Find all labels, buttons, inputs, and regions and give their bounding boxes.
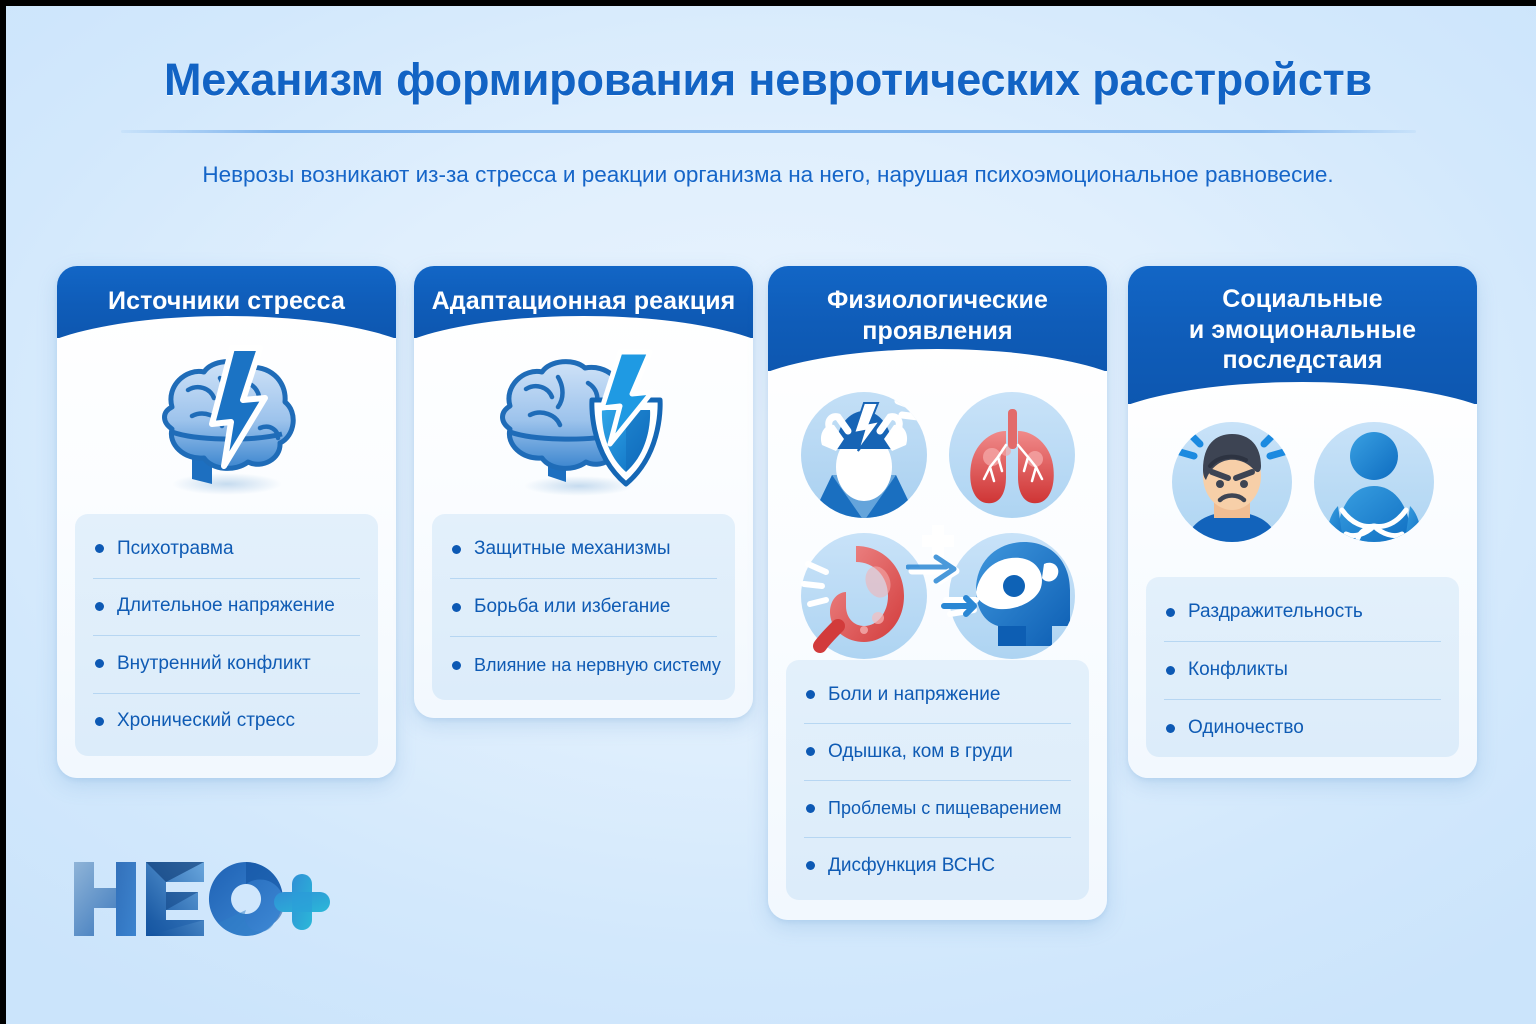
frame-edge-left	[0, 0, 6, 1024]
brain-shield-lightning-icon	[474, 344, 694, 509]
card-physiological-symptoms[interactable]: Физиологические проявления	[768, 266, 1107, 920]
lonely-person-icon	[1308, 416, 1440, 553]
bullet-icon	[806, 690, 815, 699]
list-item[interactable]: Боли и напряжение	[786, 666, 1089, 723]
list-item[interactable]: Раздражительность	[1146, 583, 1459, 641]
list-item[interactable]: Защитные механизмы	[432, 520, 735, 578]
bullet-icon	[806, 861, 815, 870]
bullet-icon	[95, 717, 104, 726]
card-stress-sources[interactable]: Источники стресса	[57, 266, 396, 778]
card-social-title-line1: Социальные	[1222, 285, 1383, 313]
page-subtitle: Неврозы возникают из-за стресса и реакци…	[0, 160, 1536, 189]
list-item[interactable]: Дисфункция ВСНС	[786, 837, 1089, 894]
bullet-icon	[1166, 724, 1175, 733]
bullet-icon	[452, 545, 461, 554]
bullet-icon	[452, 661, 461, 670]
frame-edge-top	[0, 0, 1536, 6]
list-item-label: Проблемы с пищеварением	[828, 798, 1061, 819]
list-item-label: Боли и напряжение	[828, 684, 1000, 706]
card-stress-sources-icon-area	[57, 338, 396, 510]
brain-lightning-icon	[132, 344, 322, 509]
card-social-title-line3: последстаия	[1222, 346, 1382, 374]
list-item-label: Одиночество	[1188, 717, 1304, 739]
card-physiological-title-line2: проявления	[862, 317, 1012, 345]
infographic-canvas: Механизм формирования невротических расс…	[0, 0, 1536, 1024]
bullet-icon	[95, 544, 104, 553]
list-item-label: Длительное напряжение	[117, 595, 335, 617]
list-item[interactable]: Внутренний конфликт	[75, 635, 378, 693]
card-social-emotional[interactable]: Социальные и эмоциональные последстаия	[1128, 266, 1477, 778]
card-adaptive-reaction-header: Адаптационная реакция	[414, 266, 753, 338]
list-item[interactable]: Проблемы с пищеварением	[786, 780, 1089, 837]
card-physiological-title-line1: Физиологические	[827, 286, 1048, 314]
card-physiological-icon-area	[768, 371, 1107, 644]
card-adaptive-reaction-list: Защитные механизмы Борьба или избегание …	[432, 514, 735, 700]
card-physiological-symptoms-header: Физиологические проявления	[768, 266, 1107, 371]
angry-face-icon	[1166, 416, 1298, 553]
list-item-label: Внутренний конфликт	[117, 653, 311, 675]
card-adaptive-reaction[interactable]: Адаптационная реакция	[414, 266, 753, 718]
list-item[interactable]: Одышка, ком в груди	[786, 723, 1089, 780]
neo-plus-logo[interactable]	[70, 858, 330, 944]
list-item-label: Влияние на нервную систему	[474, 655, 721, 676]
list-item-label: Конфликты	[1188, 659, 1288, 681]
lungs-icon	[940, 389, 1084, 526]
list-item-label: Защитные механизмы	[474, 538, 671, 560]
list-item-label: Одышка, ком в груди	[828, 741, 1013, 763]
page-title: Механизм формирования невротических расс…	[0, 54, 1536, 106]
card-social-list: Раздражительность Конфликты Одиночество	[1146, 577, 1459, 757]
bullet-icon	[806, 747, 815, 756]
card-social-emotional-header: Социальные и эмоциональные последстаия	[1128, 266, 1477, 404]
card-social-title-line2: и эмоциональные	[1189, 316, 1416, 344]
list-item-label: Раздражительность	[1188, 601, 1363, 623]
social-icon-grid	[1166, 416, 1440, 553]
card-adaptive-reaction-title: Адаптационная реакция	[432, 287, 736, 315]
card-physiological-list: Боли и напряжение Одышка, ком в груди Пр…	[786, 660, 1089, 900]
card-stress-sources-list: Психотравма Длительное напряжение Внутре…	[75, 514, 378, 756]
bullet-icon	[1166, 666, 1175, 675]
page-header: Механизм формирования невротических расс…	[0, 54, 1536, 189]
header-divider	[121, 130, 1416, 133]
list-item[interactable]: Длительное напряжение	[75, 578, 378, 636]
list-item-label: Хронический стресс	[117, 710, 295, 732]
list-item[interactable]: Одиночество	[1146, 699, 1459, 757]
bullet-icon	[95, 659, 104, 668]
bullet-icon	[806, 804, 815, 813]
list-item[interactable]: Конфликты	[1146, 641, 1459, 699]
list-item[interactable]: Борьба или избегание	[432, 578, 735, 636]
list-item[interactable]: Хронический стресс	[75, 693, 378, 751]
card-adaptive-reaction-icon-area	[414, 338, 753, 510]
headache-person-icon	[792, 389, 936, 526]
bullet-icon	[452, 603, 461, 612]
card-stress-sources-header: Источники стресса	[57, 266, 396, 338]
bullet-icon	[95, 602, 104, 611]
transfer-arrow-icon	[906, 523, 970, 598]
list-item[interactable]: Влияние на нервную систему	[432, 636, 735, 694]
card-social-icon-area	[1128, 404, 1477, 559]
card-stress-sources-title: Источники стресса	[108, 287, 345, 315]
bullet-icon	[1166, 608, 1175, 617]
list-item-label: Борьба или избегание	[474, 596, 671, 618]
list-item-label: Психотравма	[117, 538, 234, 560]
list-item-label: Дисфункция ВСНС	[828, 855, 995, 877]
list-item[interactable]: Психотравма	[75, 520, 378, 578]
